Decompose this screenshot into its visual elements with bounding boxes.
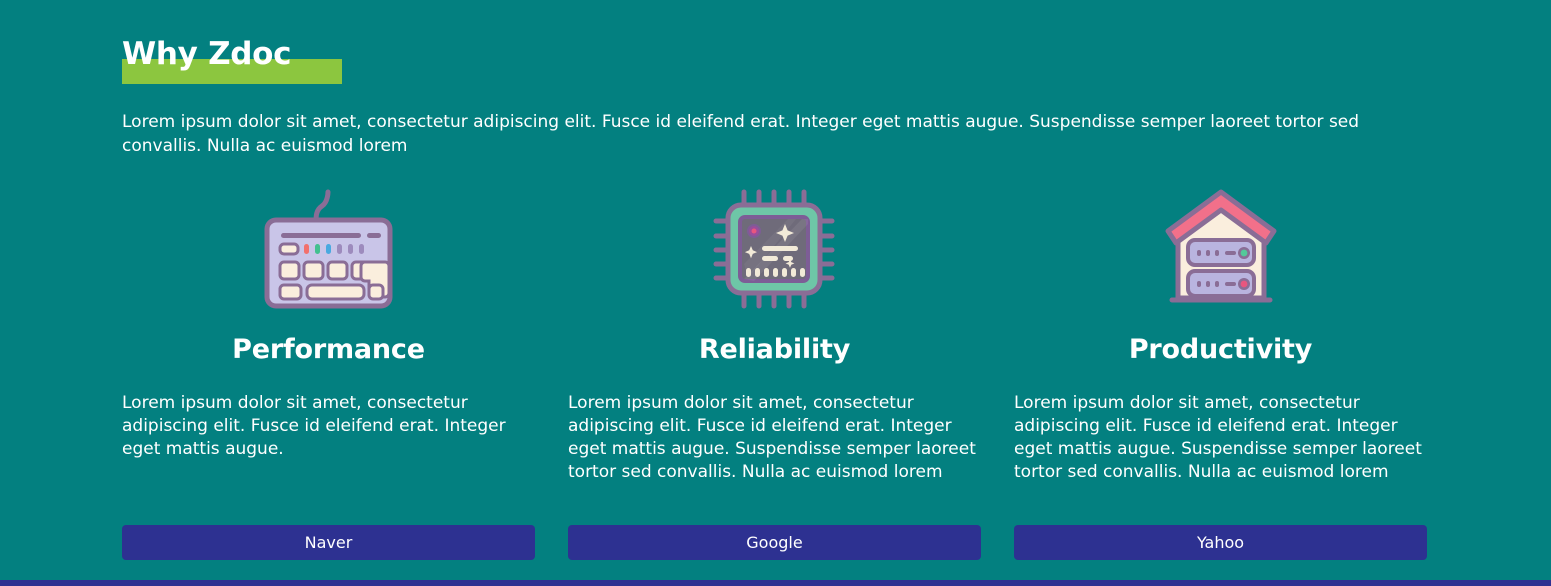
bottom-accent-strip [0, 580, 1551, 586]
google-button[interactable]: Google [568, 525, 981, 560]
card-title-label: Performance [122, 334, 535, 366]
page-title: Why Zdoc [122, 36, 293, 72]
card-action-wrap: Google [568, 505, 981, 560]
card-body-text: Lorem ipsum dolor sit amet, consectetur … [1014, 392, 1427, 488]
feature-card-reliability: Reliability Lorem ipsum dolor sit amet, … [568, 186, 981, 560]
feature-cards: Performance Lorem ipsum dolor sit amet, … [122, 186, 1427, 560]
page-title-label: Why Zdoc [122, 36, 293, 72]
card-action-wrap: Yahoo [1014, 505, 1427, 560]
feature-card-performance: Performance Lorem ipsum dolor sit amet, … [122, 186, 535, 560]
naver-button[interactable]: Naver [122, 525, 535, 560]
card-title-label: Productivity [1014, 334, 1427, 366]
yahoo-button[interactable]: Yahoo [1014, 525, 1427, 560]
cpu-chip-icon [568, 186, 981, 312]
why-zdoc-section: Why Zdoc Lorem ipsum dolor sit amet, con… [0, 0, 1551, 586]
section-intro-text: Lorem ipsum dolor sit amet, consectetur … [122, 110, 1422, 158]
card-body-text: Lorem ipsum dolor sit amet, consectetur … [568, 392, 981, 488]
data-center-house-icon [1014, 186, 1427, 312]
keyboard-icon [122, 186, 535, 312]
card-action-wrap: Naver [122, 505, 535, 560]
card-body-text: Lorem ipsum dolor sit amet, consectetur … [122, 392, 535, 488]
card-title-label: Reliability [568, 334, 981, 366]
content-container: Why Zdoc Lorem ipsum dolor sit amet, con… [122, 0, 1427, 560]
feature-card-productivity: Productivity Lorem ipsum dolor sit amet,… [1014, 186, 1427, 560]
